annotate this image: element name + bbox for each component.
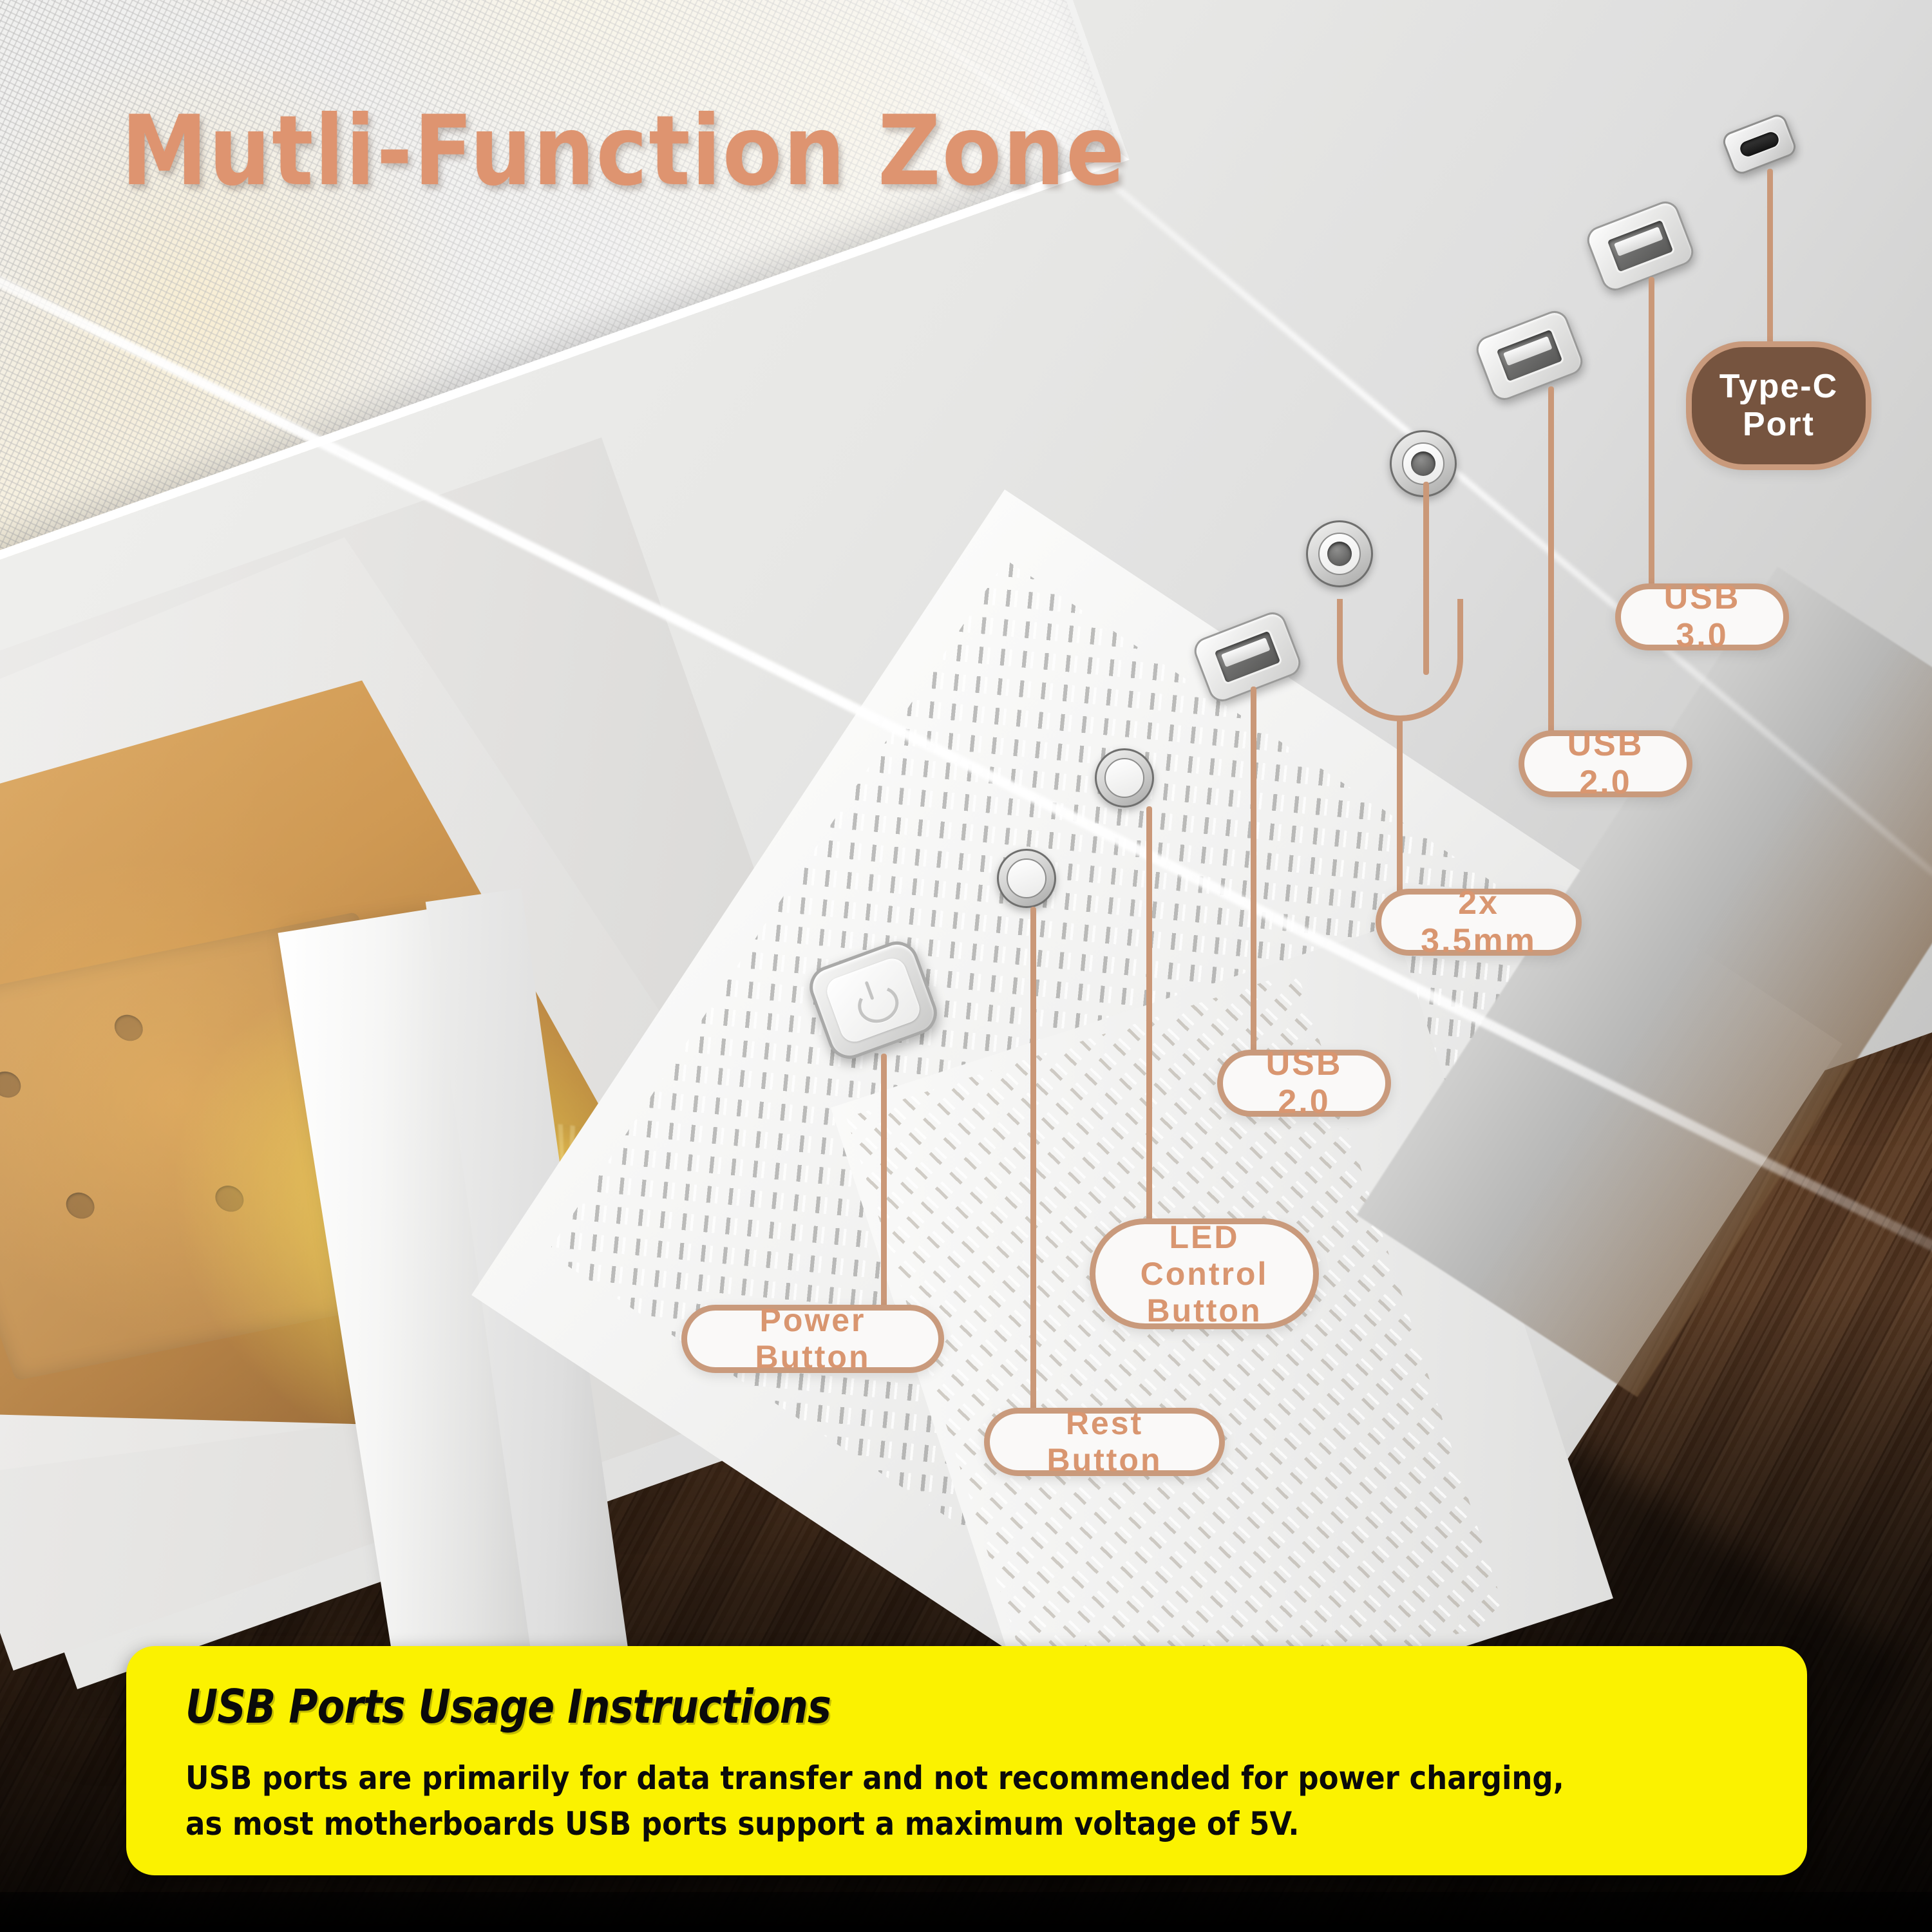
- power-symbol-icon: [851, 978, 895, 1022]
- product-photo-scene: [0, 0, 1932, 1932]
- reset-button-ring: [1007, 858, 1046, 898]
- callout-power-button[interactable]: Power Button: [681, 1305, 944, 1373]
- callout-usb-3-0[interactable]: USB 3.0: [1615, 583, 1789, 650]
- leader-line-usb-2-0-lower: [1251, 687, 1256, 1073]
- callout-usb-2-0-lower[interactable]: USB 2.0: [1217, 1050, 1391, 1117]
- audio-jack-icon-left[interactable]: [1306, 520, 1373, 587]
- callout-usb-2-0-upper[interactable]: USB 2.0: [1519, 730, 1692, 797]
- leader-line-led-control: [1146, 806, 1152, 1238]
- leader-line-type-c: [1767, 169, 1773, 362]
- usb-usage-note: USB Ports Usage Instructions USB ports a…: [126, 1646, 1807, 1875]
- bottom-frame-edge: [0, 1892, 1932, 1932]
- power-button-face: [823, 954, 923, 1046]
- usb-a-slot: [1212, 629, 1283, 686]
- note-body-text: USB ports are primarily for data transfe…: [185, 1756, 1591, 1847]
- usb-a-slot: [1605, 218, 1676, 275]
- leader-line-reset: [1030, 907, 1036, 1428]
- infographic-canvas: Mutli-Function Zone: [0, 0, 1932, 1932]
- usb-a-tongue: [1503, 336, 1552, 366]
- reset-button-icon[interactable]: [997, 849, 1056, 908]
- led-control-button-icon[interactable]: [1095, 748, 1154, 808]
- leader-line-audio-right: [1423, 482, 1429, 675]
- leader-line-usb-2-0-upper: [1548, 386, 1554, 747]
- note-heading: USB Ports Usage Instructions: [185, 1680, 1529, 1734]
- callout-rest-button[interactable]: Rest Button: [984, 1408, 1225, 1476]
- type-c-slot: [1736, 128, 1783, 160]
- leader-line-power: [881, 1054, 887, 1337]
- callout-led-control-button[interactable]: LED Control Button: [1090, 1218, 1319, 1329]
- page-title: Mutli-Function Zone: [121, 95, 1126, 207]
- usb-a-tongue: [1221, 638, 1270, 667]
- callout-type-c-port[interactable]: Type-C Port: [1686, 341, 1871, 470]
- audio-jack-ring: [1318, 533, 1361, 575]
- audio-jack-ring: [1402, 442, 1444, 485]
- audio-jack-hole: [1327, 542, 1352, 566]
- usb-a-slot: [1494, 327, 1565, 384]
- leader-line-usb-3-0: [1649, 277, 1654, 599]
- leader-line-audio-stem: [1397, 716, 1403, 903]
- leader-line-audio-merge: [1337, 599, 1463, 721]
- audio-jack-hole: [1411, 451, 1435, 476]
- led-button-ring: [1104, 758, 1144, 798]
- usb-a-tongue: [1614, 227, 1663, 256]
- callout-audio-jacks[interactable]: 2x 3.5mm: [1376, 889, 1582, 956]
